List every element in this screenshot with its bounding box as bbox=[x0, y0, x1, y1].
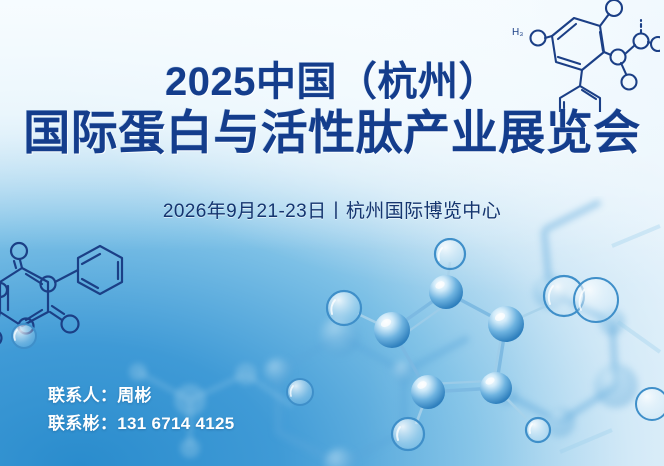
molecule-label-h3: H₃ bbox=[512, 27, 523, 38]
chemical-structure-dioxine-ring-icon bbox=[0, 232, 132, 350]
contact-person-line: 联系人：周彬 bbox=[48, 382, 235, 410]
poster-subtitle: 2026年9月21-23日丨杭州国际博览中心 bbox=[0, 196, 664, 223]
title-line-2: 国际蛋白与活性肽产业展览会 bbox=[0, 109, 664, 157]
contact-block: 联系人：周彬 联系彬：131 6714 4125 bbox=[48, 382, 235, 437]
title-line-1: 2025中国（杭州） bbox=[0, 62, 664, 103]
molecule-3d-pentagon-icon bbox=[300, 238, 630, 466]
poster-title: 2025中国（杭州） 国际蛋白与活性肽产业展览会 bbox=[0, 62, 664, 157]
contact-phone-line: 联系彬：131 6714 4125 bbox=[48, 410, 235, 438]
exhibition-poster: H₃ bbox=[0, 0, 664, 466]
molecule-lattice-blurred-icon bbox=[244, 196, 664, 466]
